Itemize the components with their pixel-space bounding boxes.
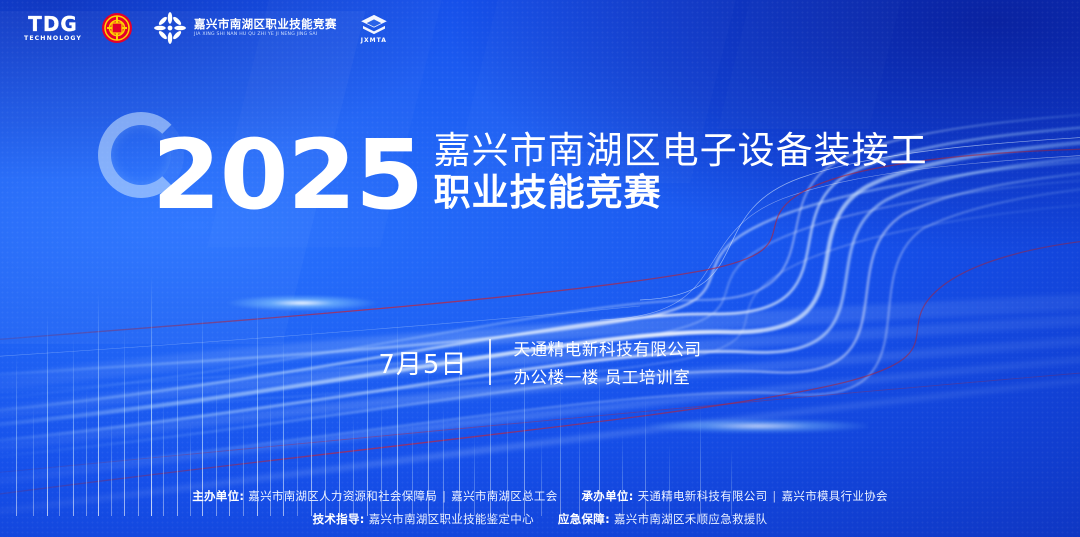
coorganizer-label: 承办单位: xyxy=(582,488,634,504)
tech-guidance-value: 嘉兴市南湖区职业技能鉴定中心 xyxy=(369,511,534,527)
emergency-support-label: 应急保障: xyxy=(558,511,610,527)
venue-line-1: 天通精电新科技有限公司 xyxy=(513,336,701,360)
footer-row-1: 主办单位: 嘉兴市南湖区人力资源和社会保障局 | 嘉兴市南湖区总工会 承办单位:… xyxy=(192,488,888,504)
event-meta: 7月5日 天通精电新科技有限公司 办公楼一楼 员工培训室 xyxy=(0,336,1080,388)
competition-name-pinyin: JIA XING SHI NAN HU QU ZHI YE JI NENG JI… xyxy=(194,33,337,38)
sponsor-logo-bar: TDG TECHNOLOGY xyxy=(24,11,389,45)
title-block: 2025 嘉兴市南湖区电子设备装接工 职业技能竞赛 xyxy=(0,124,1080,222)
organizer-value-2: 嘉兴市南湖区总工会 xyxy=(451,488,557,504)
jxmta-logo-icon xyxy=(359,13,389,35)
tdg-logo: TDG TECHNOLOGY xyxy=(24,14,82,42)
petal-burst-icon xyxy=(153,11,187,45)
footer-row-2: 技术指导: 嘉兴市南湖区职业技能鉴定中心 应急保障: 嘉兴市南湖区禾顺应急救援队 xyxy=(313,511,768,527)
glow-highlight xyxy=(227,295,377,311)
title-line-1: 嘉兴市南湖区电子设备装接工 xyxy=(434,130,928,171)
poster-canvas: TDG TECHNOLOGY xyxy=(0,0,1080,537)
organizer-value-1: 嘉兴市南湖区人力资源和社会保障局 xyxy=(248,488,437,504)
emergency-support-value: 嘉兴市南湖区禾顺应急救援队 xyxy=(614,511,767,527)
footer-credits: 主办单位: 嘉兴市南湖区人力资源和社会保障局 | 嘉兴市南湖区总工会 承办单位:… xyxy=(0,488,1080,527)
tdg-tagline: TECHNOLOGY xyxy=(24,36,82,42)
tdg-wordmark: TDG xyxy=(28,14,78,34)
venue-line-2: 办公楼一楼 员工培训室 xyxy=(513,364,701,388)
coorganizer-value-2: 嘉兴市模具行业协会 xyxy=(782,488,888,504)
jxmta-logo: JXMTA xyxy=(359,13,389,44)
competition-name-cn: 嘉兴市南湖区职业技能竞赛 xyxy=(194,18,337,30)
title-line-2: 职业技能竞赛 xyxy=(434,171,928,215)
event-date: 7月5日 xyxy=(378,344,467,381)
competition-logo: 嘉兴市南湖区职业技能竞赛 JIA XING SHI NAN HU QU ZHI … xyxy=(153,11,337,45)
footer-divider: | xyxy=(772,489,776,503)
organizer-label: 主办单位: xyxy=(192,488,244,504)
jxmta-wordmark: JXMTA xyxy=(361,37,387,44)
coorganizer-value-1: 天通精电新科技有限公司 xyxy=(638,488,768,504)
tech-guidance-label: 技术指导: xyxy=(313,511,365,527)
glow-highlight xyxy=(648,419,868,433)
union-emblem-icon xyxy=(101,12,133,44)
event-venue: 天通精电新科技有限公司 办公楼一楼 员工培训室 xyxy=(513,336,701,388)
meta-divider xyxy=(489,339,491,385)
year-title: 2025 xyxy=(152,128,423,222)
footer-divider: | xyxy=(442,489,446,503)
